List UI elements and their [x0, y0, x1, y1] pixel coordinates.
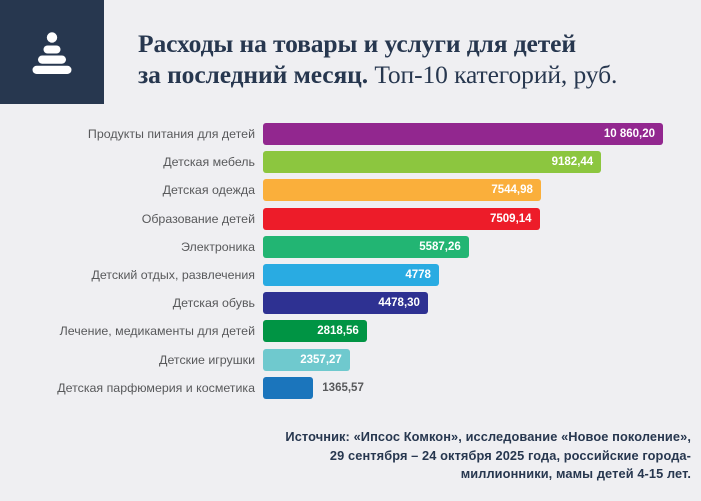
category-label: Детская парфюмерия и косметика — [0, 374, 255, 402]
category-label: Детская одежда — [0, 176, 255, 204]
bar-value-label: 7509,14 — [490, 208, 532, 230]
bar[interactable]: 7509,14 — [263, 208, 540, 230]
category-label: Детский отдых, развлечения — [0, 261, 255, 289]
chart-row: Лечение, медикаменты для детей2818,56 — [0, 317, 701, 345]
title-subtitle: Топ-10 категорий, руб. — [374, 60, 617, 89]
bar-value-label: 2357,27 — [300, 349, 342, 371]
bar-value-label: 1365,57 — [322, 377, 364, 399]
source-footer: Источник: «Ипсос Комкон», исследование «… — [0, 428, 701, 484]
source-line-1: Источник: «Ипсос Комкон», исследование «… — [102, 428, 691, 447]
page-title: Расходы на товары и услуги для детей за … — [138, 28, 690, 90]
bar-track: 2357,27 — [263, 349, 350, 371]
bar-value-label: 5587,26 — [419, 236, 461, 258]
source-line-2: 29 сентября – 24 октября 2025 года, росс… — [102, 447, 691, 466]
category-label: Детские игрушки — [0, 346, 255, 374]
bar-value-label: 2818,56 — [317, 320, 359, 342]
source-text: Источник: «Ипсос Комкон», исследование «… — [102, 428, 691, 484]
bar-track: 1365,57 — [263, 377, 313, 399]
chart-row: Образование детей7509,14 — [0, 205, 701, 233]
bar-track: 7544,98 — [263, 179, 541, 201]
bar[interactable]: 4778 — [263, 264, 439, 286]
bar[interactable]: 9182,44 — [263, 151, 601, 173]
bar-track: 9182,44 — [263, 151, 601, 173]
title-bold-line1: Расходы на товары и услуги для детей — [138, 29, 576, 58]
category-label: Электроника — [0, 233, 255, 261]
title-line-2: за последний месяц. Топ-10 категорий, ру… — [138, 59, 690, 90]
chart-row: Детские игрушки2357,27 — [0, 346, 701, 374]
bar[interactable]: 7544,98 — [263, 179, 541, 201]
bar-track: 4778 — [263, 264, 439, 286]
bar-track: 5587,26 — [263, 236, 469, 258]
bar-track: 7509,14 — [263, 208, 540, 230]
category-label: Продукты питания для детей — [0, 120, 255, 148]
title-bold-line2: за последний месяц. — [138, 60, 368, 89]
bar-value-label: 7544,98 — [491, 179, 533, 201]
chart-row: Электроника5587,26 — [0, 233, 701, 261]
title-line-1: Расходы на товары и услуги для детей — [138, 28, 690, 59]
bar-track: 2818,56 — [263, 320, 367, 342]
bar-value-label: 10 860,20 — [604, 123, 655, 145]
bar[interactable]: 2357,27 — [263, 349, 350, 371]
chart-row: Детская парфюмерия и косметика1365,57 — [0, 374, 701, 402]
category-label: Детская мебель — [0, 148, 255, 176]
bar[interactable]: 4478,30 — [263, 292, 428, 314]
bar-track: 4478,30 — [263, 292, 428, 314]
bar[interactable]: 10 860,20 — [263, 123, 663, 145]
chart-row: Продукты питания для детей10 860,20 — [0, 120, 701, 148]
category-label: Детская обувь — [0, 289, 255, 317]
bar-value-label: 4478,30 — [378, 292, 420, 314]
chart-row: Детская обувь4478,30 — [0, 289, 701, 317]
stacking-ring-pyramid-toy-icon — [29, 29, 75, 75]
bar[interactable]: 5587,26 — [263, 236, 469, 258]
bar[interactable]: 2818,56 — [263, 320, 367, 342]
bar-value-label: 4778 — [405, 264, 431, 286]
logo-block — [0, 0, 104, 104]
chart-row: Детская мебель9182,44 — [0, 148, 701, 176]
chart-row: Детская одежда7544,98 — [0, 176, 701, 204]
bar-track: 10 860,20 — [263, 123, 663, 145]
category-label: Лечение, медикаменты для детей — [0, 317, 255, 345]
header: Расходы на товары и услуги для детей за … — [0, 0, 701, 104]
category-label: Образование детей — [0, 205, 255, 233]
bar[interactable]: 1365,57 — [263, 377, 313, 399]
bar-value-label: 9182,44 — [552, 151, 594, 173]
chart-row: Детский отдых, развлечения4778 — [0, 261, 701, 289]
bar-chart: Продукты питания для детей10 860,20Детск… — [0, 120, 701, 410]
source-line-3: миллионники, мамы детей 4-15 лет. — [102, 465, 691, 484]
